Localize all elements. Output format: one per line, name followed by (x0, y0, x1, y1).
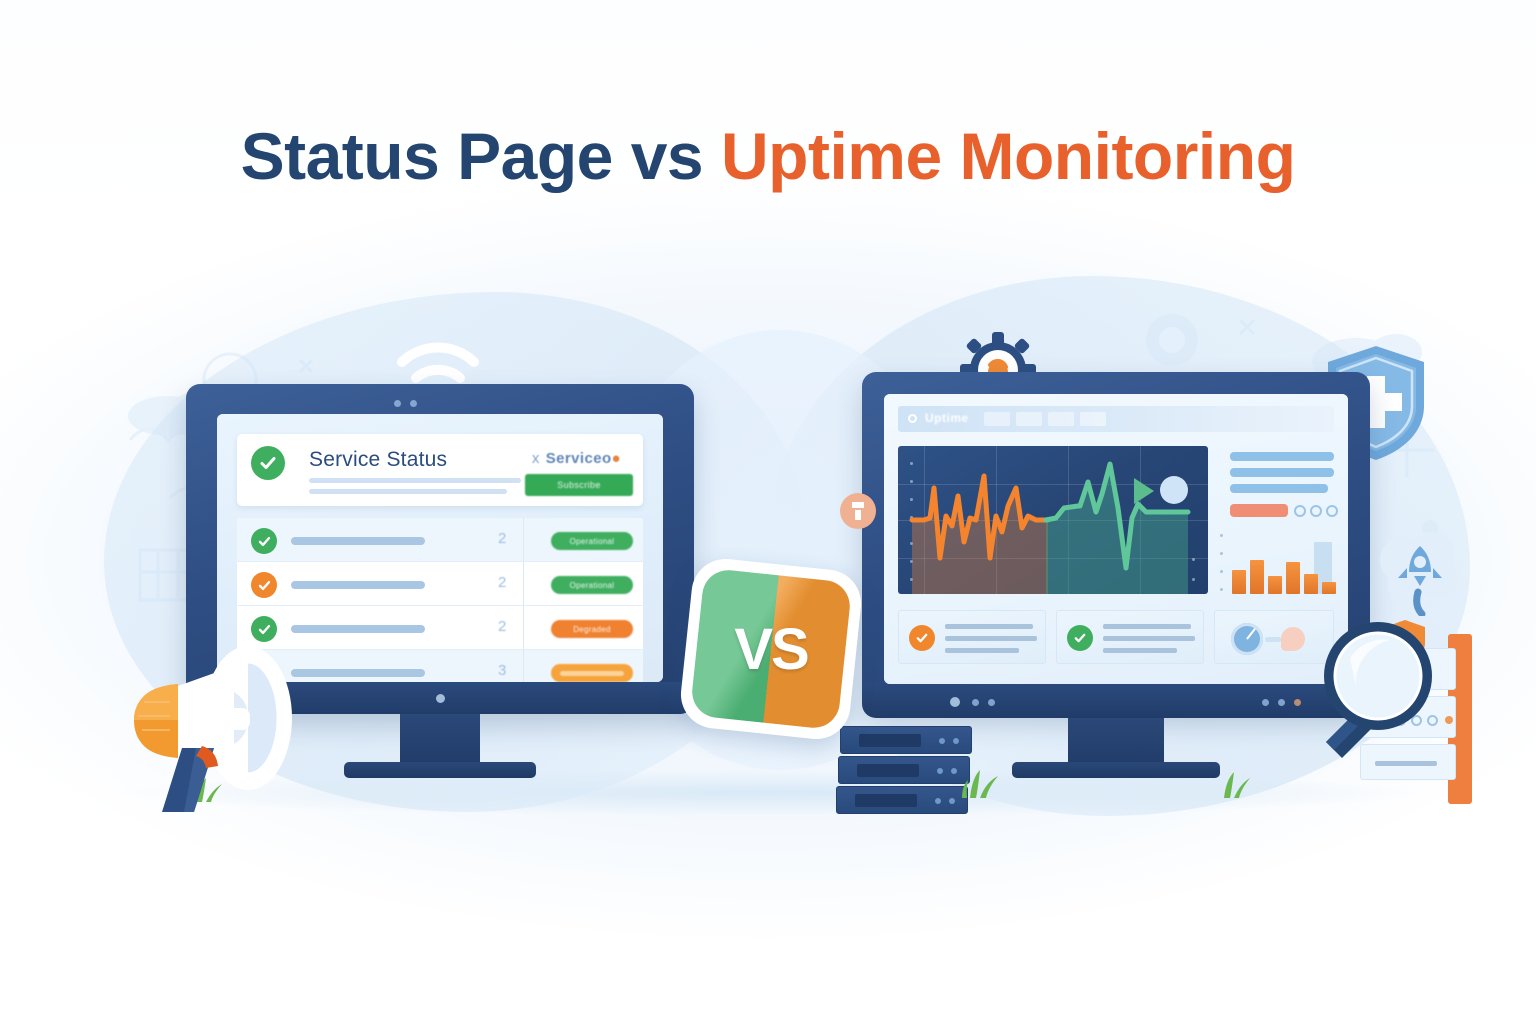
bar-chart-bar (1250, 560, 1264, 594)
server-stack-icon (836, 726, 976, 822)
service-status-header-card: Service Status xServiceo● Subscribe (237, 434, 643, 506)
placeholder-chip (1048, 412, 1074, 426)
service-brand-label: xServiceo● (532, 450, 621, 467)
server-unit (838, 756, 970, 784)
play-marker-icon (1134, 478, 1154, 504)
check-circle-icon (1067, 625, 1093, 651)
indicator-dot (1278, 699, 1285, 706)
placeholder-bar (291, 581, 425, 589)
page-title: Status Page vs Uptime Monitoring (0, 122, 1536, 191)
card-text-line (1103, 648, 1177, 653)
title-orange-part: Uptime Monitoring (721, 119, 1295, 193)
monitor-base (1012, 762, 1220, 778)
bar-chart-bar (1322, 582, 1336, 594)
card-text-line (945, 636, 1037, 641)
service-status-title: Service Status (309, 448, 447, 472)
placeholder-chip (984, 412, 1010, 426)
power-led (950, 697, 960, 707)
card-text-line (1103, 624, 1191, 629)
poster-canvas: Status Page vs Uptime Monitoring (0, 0, 1536, 1024)
grass-decor (1216, 762, 1270, 800)
status-badge: Degraded (551, 620, 633, 638)
grass-decor (960, 760, 1020, 800)
rocket-icon (1374, 526, 1466, 616)
check-circle-icon (909, 625, 935, 651)
title-navy-part: Status Page vs (241, 119, 704, 193)
placeholder-bar (1230, 484, 1328, 493)
endpoint-marker-icon (1160, 476, 1188, 504)
placeholder-bar (309, 478, 521, 483)
alert-bar (1230, 504, 1288, 517)
subscribe-button[interactable]: Subscribe (525, 474, 633, 496)
indicator-dot (1262, 699, 1269, 706)
row-number: 2 (498, 574, 506, 591)
status-card[interactable] (1056, 610, 1204, 664)
placeholder-chip (1016, 412, 1042, 426)
uptime-dashboard-screen: Uptime (884, 394, 1348, 684)
placeholder-bar (1230, 452, 1334, 461)
check-circle-icon (251, 446, 285, 480)
monitor-neck (400, 714, 480, 762)
card-text-line (945, 624, 1033, 629)
status-badge (551, 664, 633, 682)
indicator-dot (972, 699, 979, 706)
connector-line (1265, 637, 1281, 642)
placeholder-chip (1080, 412, 1106, 426)
check-circle-icon (251, 572, 277, 598)
bar-chart-bar (1232, 570, 1246, 594)
uptime-chart-panel (898, 446, 1208, 594)
server-unit (836, 786, 968, 814)
power-led (436, 694, 445, 703)
server-unit (840, 726, 972, 754)
magnifier-icon (1296, 612, 1446, 764)
check-circle-icon (251, 528, 277, 554)
gauge-icon (1231, 623, 1263, 655)
dashboard-topbar-label: Uptime (925, 411, 969, 425)
vs-badge: VS (686, 564, 856, 734)
status-badge: Operational (551, 532, 633, 550)
status-ring-icon (1294, 505, 1306, 517)
alert-badge-icon (838, 488, 878, 534)
monitor-neck (1068, 718, 1164, 762)
status-badge: Operational (551, 576, 633, 594)
megaphone-icon (62, 630, 332, 825)
row-number: 3 (498, 662, 506, 679)
placeholder-bar (309, 489, 507, 494)
bar-chart-bar (1286, 562, 1300, 594)
camera-dot (410, 400, 417, 407)
row-divider (237, 605, 643, 606)
card-text-line (945, 648, 1019, 653)
dashboard-topbar: Uptime (898, 406, 1334, 432)
placeholder-bar (1230, 468, 1334, 477)
uptime-waveform-chart (898, 446, 1208, 594)
record-dot-icon (908, 414, 917, 423)
row-number: 2 (498, 530, 506, 547)
vs-label: VS (686, 564, 856, 734)
column-divider (523, 518, 524, 682)
row-number: 2 (498, 618, 506, 635)
status-card[interactable] (898, 610, 1046, 664)
indicator-dot (988, 699, 995, 706)
bar-chart-bar (1304, 574, 1318, 594)
row-divider (237, 561, 643, 562)
bar-chart-bar (1268, 576, 1282, 594)
placeholder-bar (291, 537, 425, 545)
monitor-base (344, 762, 536, 778)
status-ring-icon (1326, 505, 1338, 517)
camera-dot (394, 400, 401, 407)
status-ring-icon (1310, 505, 1322, 517)
card-text-line (1103, 636, 1195, 641)
